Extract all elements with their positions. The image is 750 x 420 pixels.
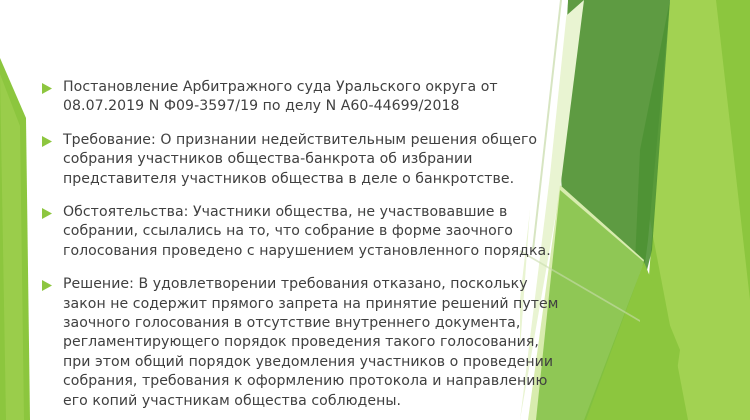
bullet-list: Постановление Арбитражного суда Уральско… [42,78,562,411]
list-item: Постановление Арбитражного суда Уральско… [42,78,562,117]
list-item: Требование: О признании недействительным… [42,131,562,189]
deco-shape-bright-lower [584,262,680,420]
deco-shape-left-triangle [0,58,30,420]
deco-shape-light-right [648,0,750,420]
list-item-text: Обстоятельства: Участники общества, не у… [63,203,562,261]
deco-shape-left-triangle-light [0,74,24,420]
deco-shape-dark-vee [560,0,670,420]
list-item-text: Постановление Арбитражного суда Уральско… [63,78,562,117]
deco-shape-bright-right [638,0,750,420]
triangle-right-icon [42,136,52,147]
list-item: Решение: В удовлетворении требования отк… [42,275,562,411]
triangle-right-icon [42,208,52,219]
list-item-text: Требование: О признании недействительным… [63,131,562,189]
triangle-right-icon [42,83,52,94]
presentation-slide: Постановление Арбитражного суда Уральско… [0,0,750,420]
list-item: Обстоятельства: Участники общества, не у… [42,203,562,261]
list-item-text: Решение: В удовлетворении требования отк… [63,275,562,411]
triangle-right-icon [42,280,52,291]
deco-shape-dark-accent [632,0,670,330]
